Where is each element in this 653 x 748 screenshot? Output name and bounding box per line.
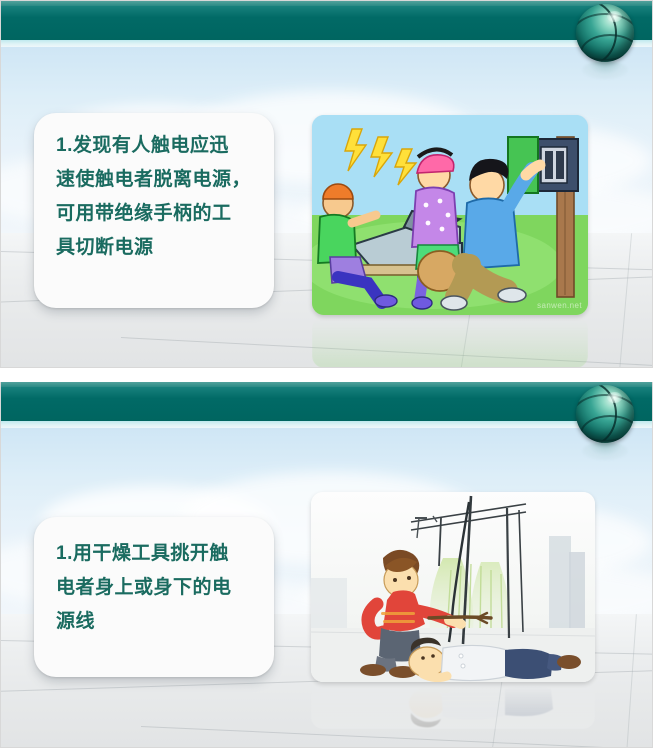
logo-wrapper [574,385,636,461]
teal-sphere-logo-icon [576,4,634,62]
slide-1-text-card: 1.发现有人触电应迅 速使触电者脱离电源， 可用带绝缘手柄的工 具切断电源 [34,113,274,308]
slide-2-text: 1.用干燥工具挑开触 电者身上或身下的电 源线 [56,537,258,639]
sphere-highlight [607,11,622,22]
sphere-reflection [582,61,628,79]
slide-2: 触电急救知识 1.用干燥工具挑开触 电者身上或身下的电 源线 [0,382,653,748]
header-underline-glow [1,40,652,47]
illustration-art [312,115,588,315]
header-underline-glow [1,421,652,428]
slide-header-bar [1,1,652,40]
slide-deck: 触电急救知识 1.发现有人触电应迅 速使触电者脱离电源， 可用带绝缘手柄的工 具… [0,0,653,748]
sphere-reflection [582,442,628,460]
floor-line [619,233,632,368]
logo-wrapper [574,4,636,80]
slide-1: 触电急救知识 1.发现有人触电应迅 速使触电者脱离电源， 可用带绝缘手柄的工 具… [0,0,653,368]
slide-2-illustration-reflection [311,683,595,729]
floor-line [626,614,637,748]
header-top-highlight [1,1,652,6]
header-top-highlight [1,382,652,387]
slide-1-illustration: sanwen.net [312,115,588,315]
illustration-watermark: sanwen.net [537,301,582,310]
slide-1-text: 1.发现有人触电应迅 速使触电者脱离电源， 可用带绝缘手柄的工 具切断电源 [56,129,258,265]
illustration-art [311,492,595,682]
slide-2-illustration [311,492,595,682]
slide-separator [0,368,653,382]
teal-sphere-logo-icon [576,385,634,443]
slide-1-illustration-reflection [312,316,588,368]
slide-2-text-card: 1.用干燥工具挑开触 电者身上或身下的电 源线 [34,517,274,677]
floor-line [141,726,653,748]
slide-header-bar [1,382,652,421]
sphere-highlight [607,392,622,403]
